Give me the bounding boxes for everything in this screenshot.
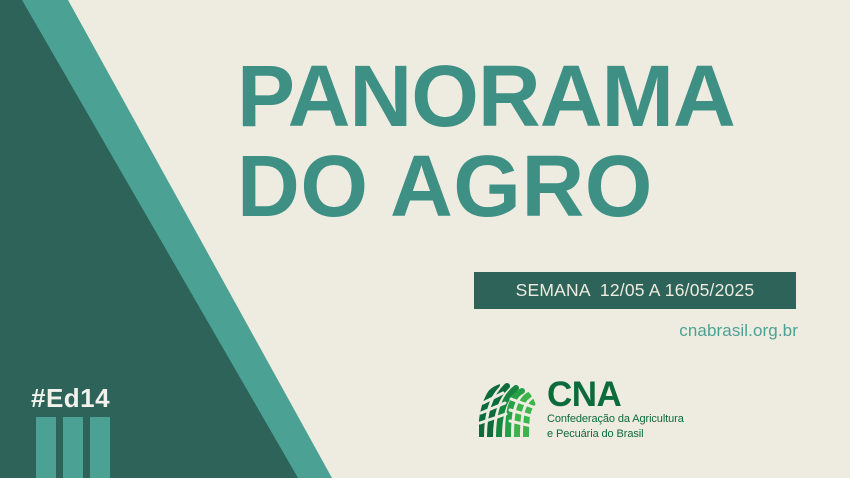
week-range-label: SEMANA 12/05 A 16/05/2025 <box>516 280 755 301</box>
title-line-2: DO AGRO <box>237 142 817 232</box>
edition-number: #Ed14 <box>31 383 110 414</box>
website-url[interactable]: cnabrasil.org.br <box>520 321 798 341</box>
week-range-banner: SEMANA 12/05 A 16/05/2025 <box>474 272 796 309</box>
panorama-do-agro-poster: PANORAMA DO AGRO SEMANA 12/05 A 16/05/20… <box>0 0 850 478</box>
cna-wordmark: CNA Confederação da Agricultura e Pecuár… <box>547 378 684 441</box>
cna-logo: CNA Confederação da Agricultura e Pecuár… <box>477 378 684 441</box>
decorative-bar-3 <box>90 417 110 478</box>
page-title: PANORAMA DO AGRO <box>237 52 817 232</box>
title-line-1: PANORAMA <box>237 52 817 142</box>
cna-acronym: CNA <box>547 378 684 411</box>
cna-tagline-line-2: e Pecuária do Brasil <box>547 428 684 441</box>
cna-tagline-line-1: Confederação da Agricultura <box>547 413 684 426</box>
cna-wheat-fan-icon <box>477 381 539 439</box>
edition-bars-decoration <box>36 417 110 478</box>
decorative-bar-2 <box>63 417 83 478</box>
decorative-bar-1 <box>36 417 56 478</box>
